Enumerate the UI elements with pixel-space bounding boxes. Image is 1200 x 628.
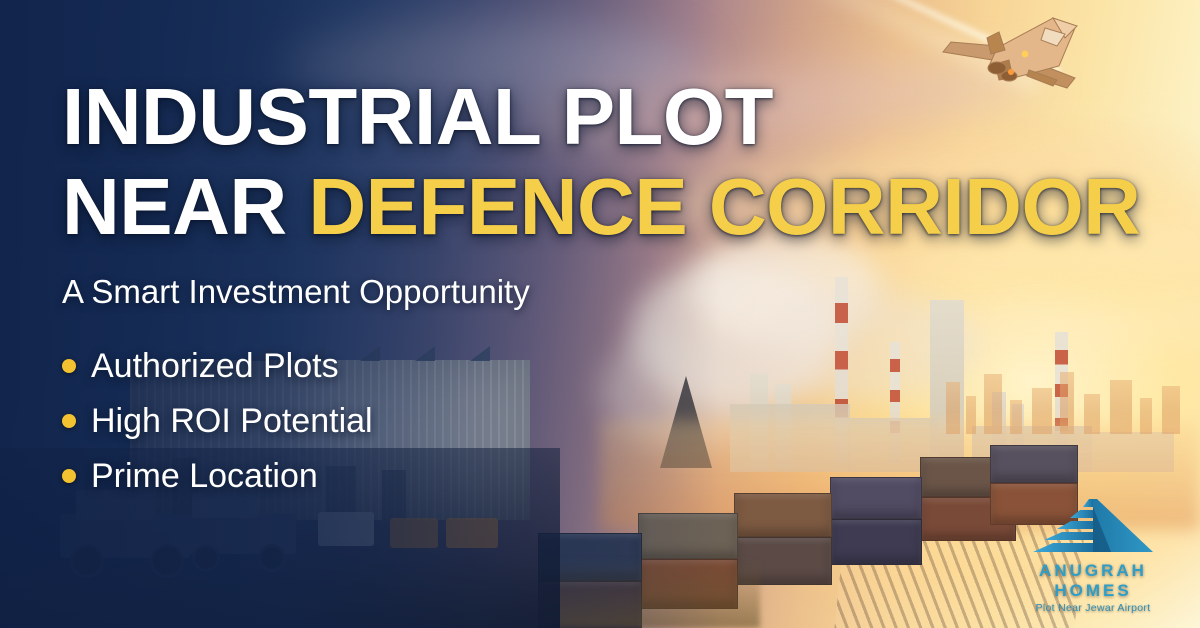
list-item-label: Prime Location	[91, 457, 318, 496]
list-item: Prime Location	[62, 449, 1142, 504]
list-item-label: Authorized Plots	[91, 347, 339, 386]
logo-name: ANUGRAH HOMES	[1008, 561, 1178, 601]
list-item: Authorized Plots	[62, 339, 1142, 394]
logo-tagline: Plot Near Jewar Airport	[1008, 602, 1178, 614]
brand-logo: ANUGRAH HOMES Plot Near Jewar Airport	[1008, 497, 1178, 614]
bullet-dot-icon	[62, 469, 76, 483]
bullet-dot-icon	[62, 359, 76, 373]
subheadline: A Smart Investment Opportunity	[62, 273, 1142, 311]
promotional-banner: INDUSTRIAL PLOT NEAR DEFENCE CORRIDOR A …	[0, 0, 1200, 628]
building-pyramid-icon	[1033, 497, 1153, 563]
headline-line-2: NEAR DEFENCE CORRIDOR	[62, 168, 1142, 246]
banner-content: INDUSTRIAL PLOT NEAR DEFENCE CORRIDOR A …	[62, 78, 1142, 504]
list-item: High ROI Potential	[62, 394, 1142, 449]
headline-accent: DEFENCE CORRIDOR	[308, 162, 1140, 251]
list-item-label: High ROI Potential	[91, 402, 373, 441]
bullet-dot-icon	[62, 414, 76, 428]
headline-line-1: INDUSTRIAL PLOT	[62, 78, 1142, 156]
feature-list: Authorized Plots High ROI Potential Prim…	[62, 339, 1142, 504]
headline-prefix: NEAR	[62, 162, 308, 251]
